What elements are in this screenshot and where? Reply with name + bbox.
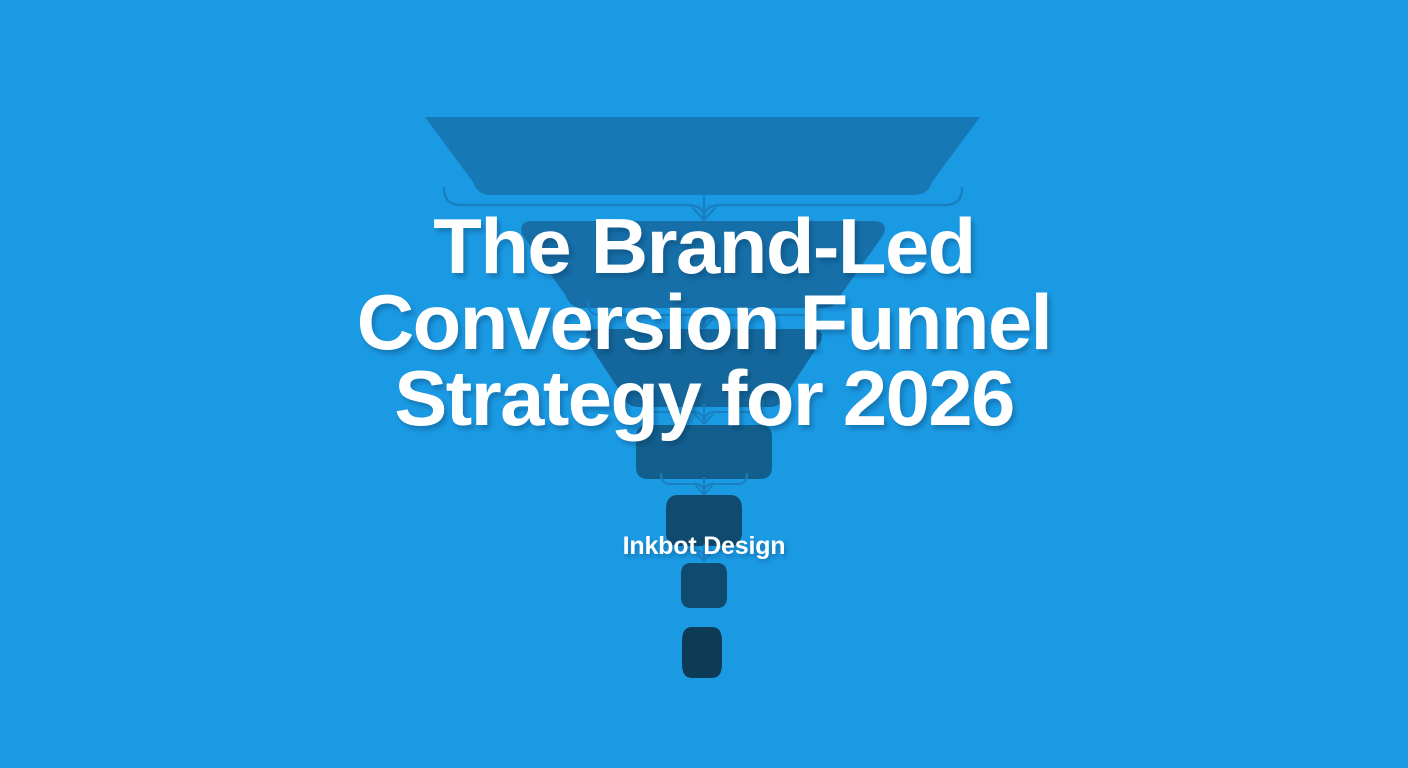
title-line-1: The Brand-Led <box>143 208 1265 284</box>
poster-canvas: The Brand-Led Conversion Funnel Strategy… <box>0 0 1408 768</box>
brand-byline: Inkbot Design <box>623 532 786 560</box>
title-line-3: Strategy for 2026 <box>143 360 1265 436</box>
title-line-2: Conversion Funnel <box>143 284 1265 360</box>
poster-text: The Brand-Led Conversion Funnel Strategy… <box>0 0 1408 768</box>
page-title: The Brand-Led Conversion Funnel Strategy… <box>143 208 1265 436</box>
